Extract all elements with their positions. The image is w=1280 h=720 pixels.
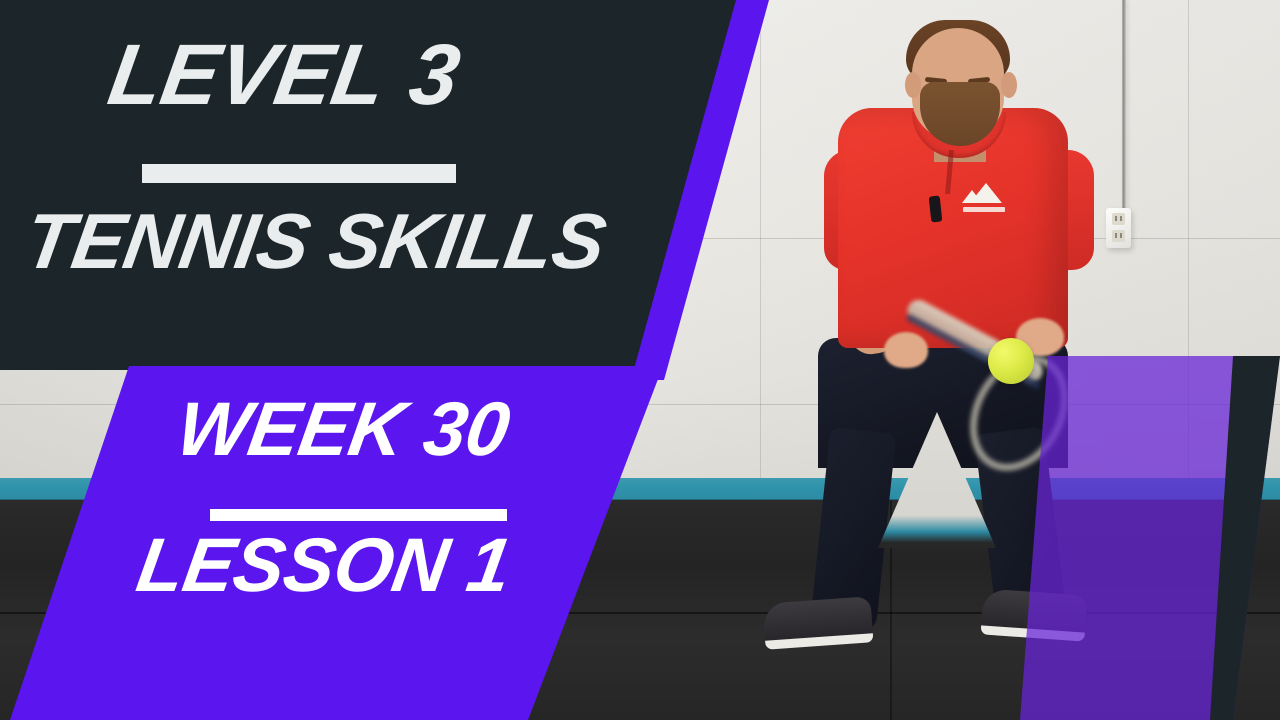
tennis-skills-heading: TENNIS SKILLS — [20, 202, 611, 280]
level-heading: LEVEL3 — [103, 32, 465, 118]
week-heading: WEEK 30 — [172, 392, 514, 468]
level-label: LEVEL — [102, 27, 392, 123]
lesson-heading: LESSON 1 — [132, 528, 516, 604]
divider-rule-top — [142, 164, 456, 183]
divider-rule-bottom — [210, 509, 507, 521]
text-layer: LEVEL3 TENNIS SKILLS WEEK 30 LESSON 1 — [0, 0, 1280, 720]
thumbnail-canvas: LEVEL3 TENNIS SKILLS WEEK 30 LESSON 1 — [0, 0, 1280, 720]
level-number: 3 — [403, 27, 466, 123]
